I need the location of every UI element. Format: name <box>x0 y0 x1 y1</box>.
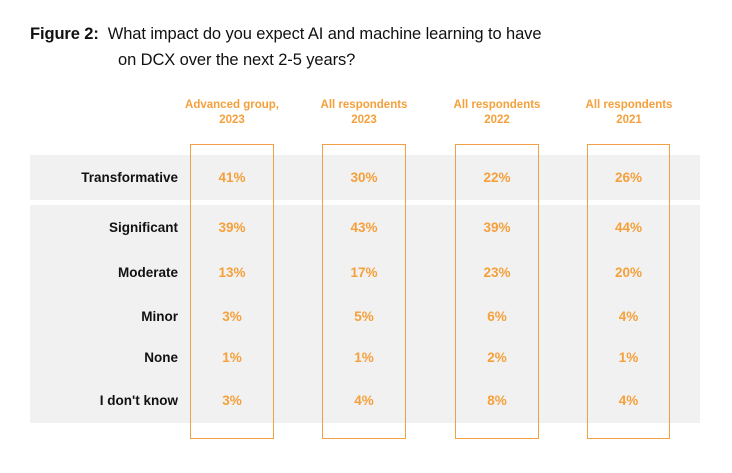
table-cell: 1% <box>322 335 406 380</box>
column-header-2-line-2: 2022 <box>427 113 567 128</box>
table-cell: 30% <box>322 155 406 200</box>
table-cell: 4% <box>587 294 670 339</box>
column-header-2-line-1: All respondents <box>427 98 567 113</box>
row-label-transformative: Transformative <box>30 155 178 200</box>
figure-container: Figure 2: What impact do you expect AI a… <box>0 0 732 473</box>
figure-title: Figure 2: What impact do you expect AI a… <box>30 21 710 73</box>
table-cell: 20% <box>587 250 670 295</box>
row-label-minor: Minor <box>30 294 178 339</box>
row-label-moderate: Moderate <box>30 250 178 295</box>
table-cell: 3% <box>190 294 274 339</box>
column-header-2: All respondents 2022 <box>427 98 567 128</box>
column-header-3-line-2: 2021 <box>559 113 699 128</box>
table-cell: 13% <box>190 250 274 295</box>
column-header-1-line-1: All respondents <box>294 98 434 113</box>
figure-question-line-2: on DCX over the next 2-5 years? <box>118 51 355 69</box>
column-header-0-line-2: 2023 <box>162 113 302 128</box>
table-cell: 3% <box>190 378 274 423</box>
table-cell: 1% <box>190 335 274 380</box>
table-cell: 39% <box>455 205 539 250</box>
row-label-i-dont-know: I don't know <box>30 378 178 423</box>
table-cell: 8% <box>455 378 539 423</box>
table-cell: 41% <box>190 155 274 200</box>
column-header-3-line-1: All respondents <box>559 98 699 113</box>
column-header-1-line-2: 2023 <box>294 113 434 128</box>
table-cell: 1% <box>587 335 670 380</box>
column-header-1: All respondents 2023 <box>294 98 434 128</box>
figure-title-line-1: Figure 2: What impact do you expect AI a… <box>30 21 710 47</box>
table-cell: 4% <box>587 378 670 423</box>
table-cell: 17% <box>322 250 406 295</box>
column-header-0: Advanced group, 2023 <box>162 98 302 128</box>
column-header-0-line-1: Advanced group, <box>162 98 302 113</box>
row-label-none: None <box>30 335 178 380</box>
table-cell: 44% <box>587 205 670 250</box>
figure-number-label: Figure 2: <box>30 25 108 43</box>
table-cell: 5% <box>322 294 406 339</box>
table-cell: 2% <box>455 335 539 380</box>
table-cell: 26% <box>587 155 670 200</box>
column-header-3: All respondents 2021 <box>559 98 699 128</box>
table-cell: 43% <box>322 205 406 250</box>
table-cell: 4% <box>322 378 406 423</box>
row-label-significant: Significant <box>30 205 178 250</box>
table-cell: 6% <box>455 294 539 339</box>
table-cell: 23% <box>455 250 539 295</box>
figure-title-line-2: on DCX over the next 2-5 years? <box>30 47 710 73</box>
table-cell: 39% <box>190 205 274 250</box>
table-cell: 22% <box>455 155 539 200</box>
figure-question-line-1: What impact do you expect AI and machine… <box>108 25 542 43</box>
